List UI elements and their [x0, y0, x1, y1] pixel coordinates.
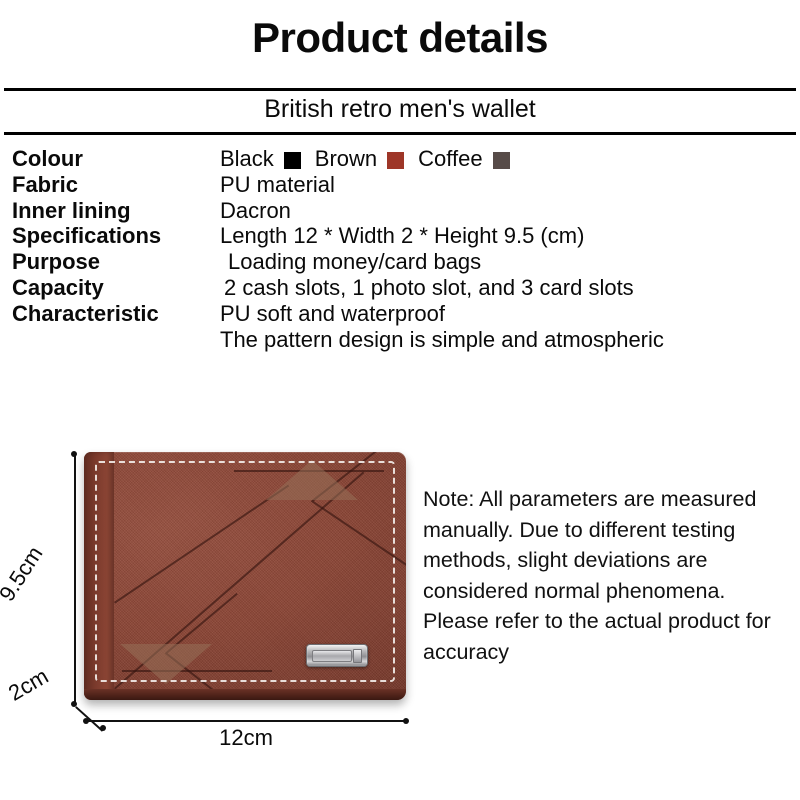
wallet-metal-clasp-icon — [306, 644, 368, 667]
dimension-dot-width-right — [403, 718, 409, 724]
spec-label-colour: Colour — [12, 146, 83, 172]
table-row-characteristic: Characteristic PU soft and waterproof — [0, 301, 800, 327]
colour-swatch-black — [284, 152, 301, 169]
colour-name-coffee: Coffee — [418, 146, 482, 172]
colour-swatch-brown — [387, 152, 404, 169]
dimension-line-width — [86, 720, 406, 722]
table-row-inner-lining: Inner lining Dacron — [0, 198, 800, 224]
measurement-note: Note: All parameters are measured manual… — [423, 484, 795, 667]
clasp-inner-plate — [312, 650, 352, 662]
dimension-label-height: 9.5cm — [0, 542, 48, 606]
dimension-label-depth: 2cm — [4, 663, 53, 706]
table-row-capacity: Capacity 2 cash slots, 1 photo slot, and… — [0, 275, 800, 301]
spec-label-characteristic: Characteristic — [12, 301, 159, 327]
page-title: Product details — [0, 16, 800, 60]
table-row-colour: Colour Black Brown Coffee — [0, 146, 800, 172]
clasp-side-bar — [353, 649, 362, 663]
product-subtitle: British retro men's wallet — [0, 95, 800, 124]
spec-label-purpose: Purpose — [12, 249, 100, 275]
colour-name-black: Black — [220, 146, 274, 172]
spec-label-fabric: Fabric — [12, 172, 78, 198]
specification-table: Colour Black Brown Coffee Fabric PU mate… — [0, 146, 800, 352]
dimension-dot-height-top — [71, 451, 77, 457]
spec-value-colour: Black Brown Coffee — [220, 146, 524, 172]
wallet-image — [84, 452, 406, 700]
table-row-characteristic-continued: The pattern design is simple and atmosph… — [0, 327, 800, 353]
table-row-specifications: Specifications Length 12 * Width 2 * Hei… — [0, 223, 800, 249]
spec-label-specifications: Specifications — [12, 223, 161, 249]
spec-value-characteristic: PU soft and waterproof — [220, 301, 445, 327]
wallet-bottom-edge — [84, 689, 406, 700]
spec-value-purpose: Loading money/card bags — [228, 249, 481, 275]
divider-top — [4, 88, 796, 91]
spec-value-characteristic-line2: The pattern design is simple and atmosph… — [220, 327, 664, 353]
dimension-dot-depth-end — [100, 725, 106, 731]
spec-label-capacity: Capacity — [12, 275, 104, 301]
table-row-fabric: Fabric PU material — [0, 172, 800, 198]
product-photo-figure: 12cm 9.5cm 2cm — [0, 420, 430, 770]
table-row-purpose: Purpose Loading money/card bags — [0, 249, 800, 275]
colour-swatch-coffee — [493, 152, 510, 169]
spec-value-capacity: 2 cash slots, 1 photo slot, and 3 card s… — [224, 275, 634, 301]
spec-value-inner-lining: Dacron — [220, 198, 291, 224]
spec-value-specifications: Length 12 * Width 2 * Height 9.5 (cm) — [220, 223, 584, 249]
colour-name-brown: Brown — [315, 146, 377, 172]
dimension-label-width: 12cm — [86, 725, 406, 751]
spec-label-inner-lining: Inner lining — [12, 198, 131, 224]
spec-value-fabric: PU material — [220, 172, 335, 198]
dimension-line-height — [74, 454, 76, 704]
divider-bottom — [4, 132, 796, 135]
